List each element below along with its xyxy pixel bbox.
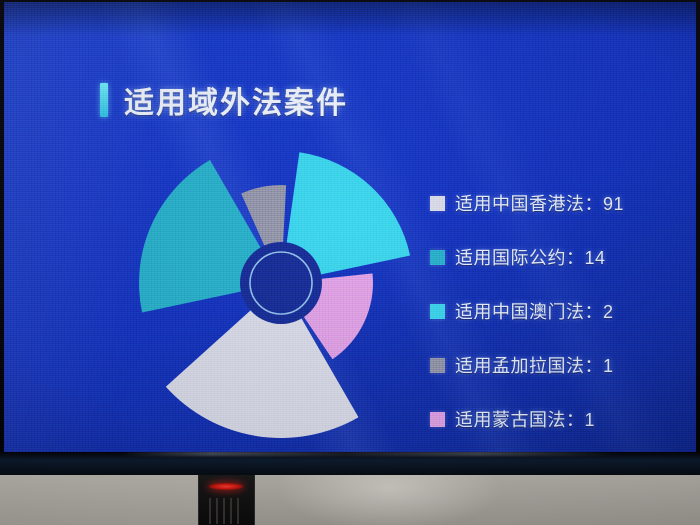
legend-item-label: 适用蒙古国法：1 (455, 406, 595, 432)
legend-swatch (430, 358, 445, 373)
legend-swatch (430, 304, 445, 319)
legend-swatch (430, 196, 445, 211)
page-title: 适用域外法案件 (124, 78, 348, 122)
wall-panel-left (0, 468, 202, 525)
slide-title: 适用域外法案件 (100, 78, 348, 122)
legend-item-bangladesh[interactable]: 适用孟加拉国法：1 (430, 338, 680, 392)
chart-legend: 适用中国香港法：91 适用国际公约：14 适用中国澳门法：2 适用孟加拉国法：1… (430, 176, 680, 446)
rose-chart-svg (112, 130, 452, 440)
rose-chart (112, 130, 452, 440)
legend-swatch (430, 250, 445, 265)
vent-grille (209, 498, 243, 524)
legend-item-label: 适用孟加拉国法：1 (455, 352, 614, 378)
legend-item-macau[interactable]: 适用中国澳门法：2 (430, 284, 680, 338)
power-led-icon (209, 483, 243, 490)
legend-item-mongolia[interactable]: 适用蒙古国法：1 (430, 392, 680, 446)
legend-item-label: 适用中国香港法：91 (455, 190, 624, 216)
tv-bezel: 适用域外法案件 适用中国香港法：91 适用国际公约：14 (0, 0, 700, 475)
legend-swatch (430, 412, 445, 427)
legend-item-international-convention[interactable]: 适用国际公约：14 (430, 230, 680, 284)
donut-hub (240, 242, 322, 324)
photographed-screen: 适用域外法案件 适用中国香港法：91 适用国际公约：14 (0, 0, 700, 525)
legend-item-label: 适用国际公约：14 (455, 244, 606, 270)
slide-top-shade (4, 2, 696, 36)
title-accent-bar (100, 83, 108, 117)
legend-item-label: 适用中国澳门法：2 (455, 298, 614, 324)
presentation-slide: 适用域外法案件 适用中国香港法：91 适用国际公约：14 (4, 2, 696, 452)
legend-item-hongkong[interactable]: 适用中国香港法：91 (430, 176, 680, 230)
set-top-box (198, 468, 255, 525)
